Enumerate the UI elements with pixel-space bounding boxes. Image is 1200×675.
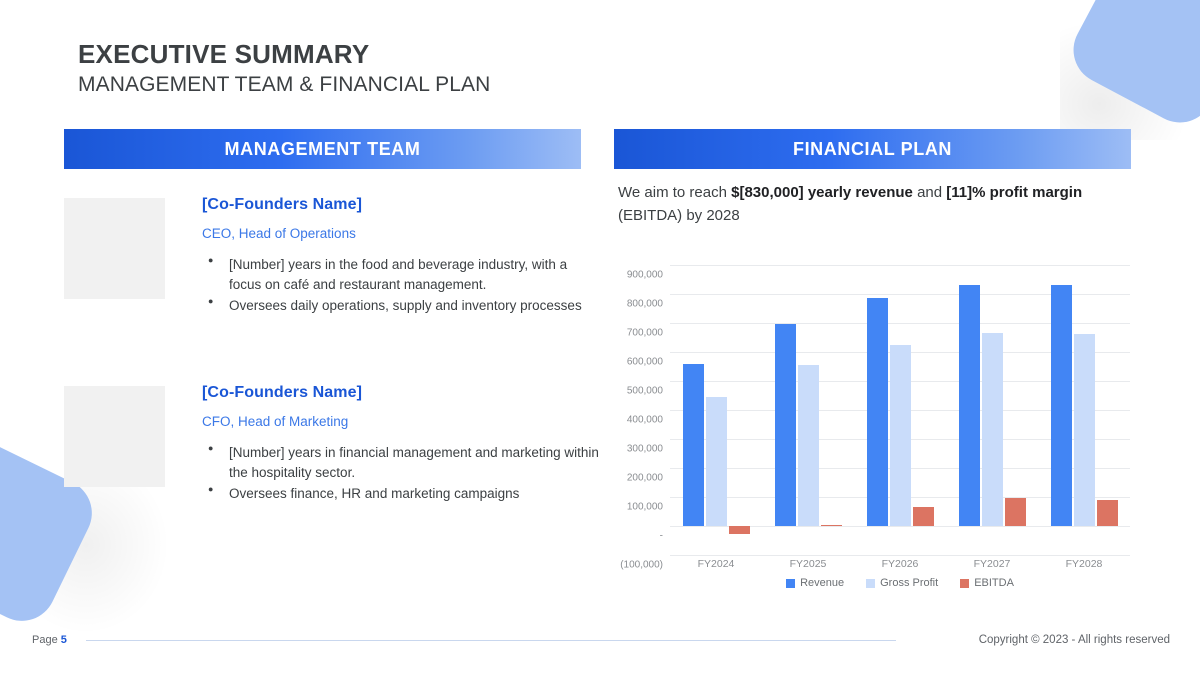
team-member-card: [Co-Founders Name] CEO, Head of Operatio…	[64, 196, 602, 318]
chart-bar	[1051, 285, 1072, 526]
chart-x-tick-label: FY2025	[790, 558, 827, 570]
footer-divider	[86, 640, 896, 641]
chart-y-tick-label: 300,000	[627, 444, 663, 455]
chart-y-tick-label: 800,000	[627, 299, 663, 310]
chart-y-tick-label: 600,000	[627, 357, 663, 368]
chart-x-tick-label: FY2028	[1066, 558, 1103, 570]
financial-plan-intro: We aim to reach $[830,000] yearly revenu…	[618, 182, 1118, 227]
chart-legend-label: Gross Profit	[880, 577, 938, 589]
chart-legend-item[interactable]: Revenue	[786, 577, 844, 589]
team-member-photo-placeholder	[64, 386, 165, 487]
chart-legend-item[interactable]: Gross Profit	[866, 577, 938, 589]
section-header-management-team-label: MANAGEMENT TEAM	[225, 139, 421, 160]
chart-y-tick-label: 500,000	[627, 386, 663, 397]
page-subtitle: MANAGEMENT TEAM & FINANCIAL PLAN	[78, 73, 490, 97]
team-member-name: [Co-Founders Name]	[202, 196, 602, 214]
section-header-financial-plan-label: FINANCIAL PLAN	[793, 139, 952, 160]
chart-y-tick-label: 900,000	[627, 270, 663, 281]
chart-x-tick-label: FY2026	[882, 558, 919, 570]
chart-y-tick-label: -	[660, 531, 663, 542]
chart-y-tick-label: 100,000	[627, 502, 663, 513]
intro-text-part-1: We aim to reach	[618, 184, 731, 201]
chart-gridline	[670, 265, 1130, 266]
chart-bar	[890, 345, 911, 526]
chart-x-axis: FY2024FY2025FY2026FY2027FY2028	[670, 558, 1130, 574]
list-item: [Number] years in the food and beverage …	[202, 255, 602, 294]
team-member-name: [Co-Founders Name]	[202, 384, 602, 402]
chart-bar	[913, 507, 934, 526]
chart-bar	[959, 285, 980, 526]
team-member-photo-placeholder	[64, 198, 165, 299]
list-item: [Number] years in financial management a…	[202, 443, 602, 482]
chart-x-tick-label: FY2024	[698, 558, 735, 570]
chart-bar	[821, 525, 842, 526]
chart-y-tick-label: 400,000	[627, 415, 663, 426]
chart-y-axis: 900,000800,000700,000600,000500,000400,0…	[600, 265, 663, 555]
copyright-text: Copyright © 2023 - All rights reserved	[979, 634, 1170, 646]
team-member-card: [Co-Founders Name] CFO, Head of Marketin…	[64, 384, 602, 506]
intro-highlight-margin: [11]% profit margin	[946, 184, 1082, 201]
section-header-financial-plan: FINANCIAL PLAN	[614, 129, 1131, 169]
legend-swatch-icon	[786, 579, 795, 588]
section-header-management-team: MANAGEMENT TEAM	[64, 129, 581, 169]
chart-y-tick-label: (100,000)	[620, 560, 663, 571]
chart-y-tick-label: 700,000	[627, 328, 663, 339]
slide-footer: Page 5 Copyright © 2023 - All rights res…	[0, 631, 1200, 649]
chart-bar	[729, 526, 750, 534]
chart-bar	[775, 324, 796, 526]
chart-bar	[982, 333, 1003, 526]
chart-legend: RevenueGross ProfitEBITDA	[670, 577, 1130, 589]
page-number: 5	[61, 634, 67, 646]
team-member-role: CFO, Head of Marketing	[202, 414, 602, 429]
team-member-bullets: [Number] years in the food and beverage …	[202, 255, 602, 316]
chart-bar	[1074, 334, 1095, 526]
chart-legend-label: EBITDA	[974, 577, 1014, 589]
chart-bar	[1005, 498, 1026, 526]
page-title-block: EXECUTIVE SUMMARY MANAGEMENT TEAM & FINA…	[78, 40, 490, 97]
financial-bar-chart: 900,000800,000700,000600,000500,000400,0…	[600, 255, 1140, 600]
list-item: Oversees daily operations, supply and in…	[202, 296, 602, 316]
intro-text-part-3: (EBITDA) by 2028	[618, 207, 740, 224]
page-prefix: Page	[32, 634, 61, 646]
chart-bar	[683, 364, 704, 526]
legend-swatch-icon	[960, 579, 969, 588]
list-item: Oversees finance, HR and marketing campa…	[202, 484, 602, 504]
team-member-role: CEO, Head of Operations	[202, 226, 602, 241]
chart-bar	[706, 397, 727, 526]
slide-canvas: EXECUTIVE SUMMARY MANAGEMENT TEAM & FINA…	[0, 0, 1200, 675]
legend-swatch-icon	[866, 579, 875, 588]
chart-plot-area	[670, 265, 1130, 555]
intro-highlight-revenue: $[830,000] yearly revenue	[731, 184, 913, 201]
chart-bar	[1097, 500, 1118, 526]
chart-bar	[867, 298, 888, 526]
team-member-bullets: [Number] years in financial management a…	[202, 443, 602, 504]
chart-legend-item[interactable]: EBITDA	[960, 577, 1014, 589]
chart-bar	[798, 365, 819, 526]
chart-legend-label: Revenue	[800, 577, 844, 589]
intro-text-part-2: and	[913, 184, 946, 201]
chart-x-tick-label: FY2027	[974, 558, 1011, 570]
page-number-label: Page 5	[32, 634, 67, 646]
chart-gridline	[670, 555, 1130, 556]
chart-y-tick-label: 200,000	[627, 473, 663, 484]
page-title: EXECUTIVE SUMMARY	[78, 40, 490, 70]
